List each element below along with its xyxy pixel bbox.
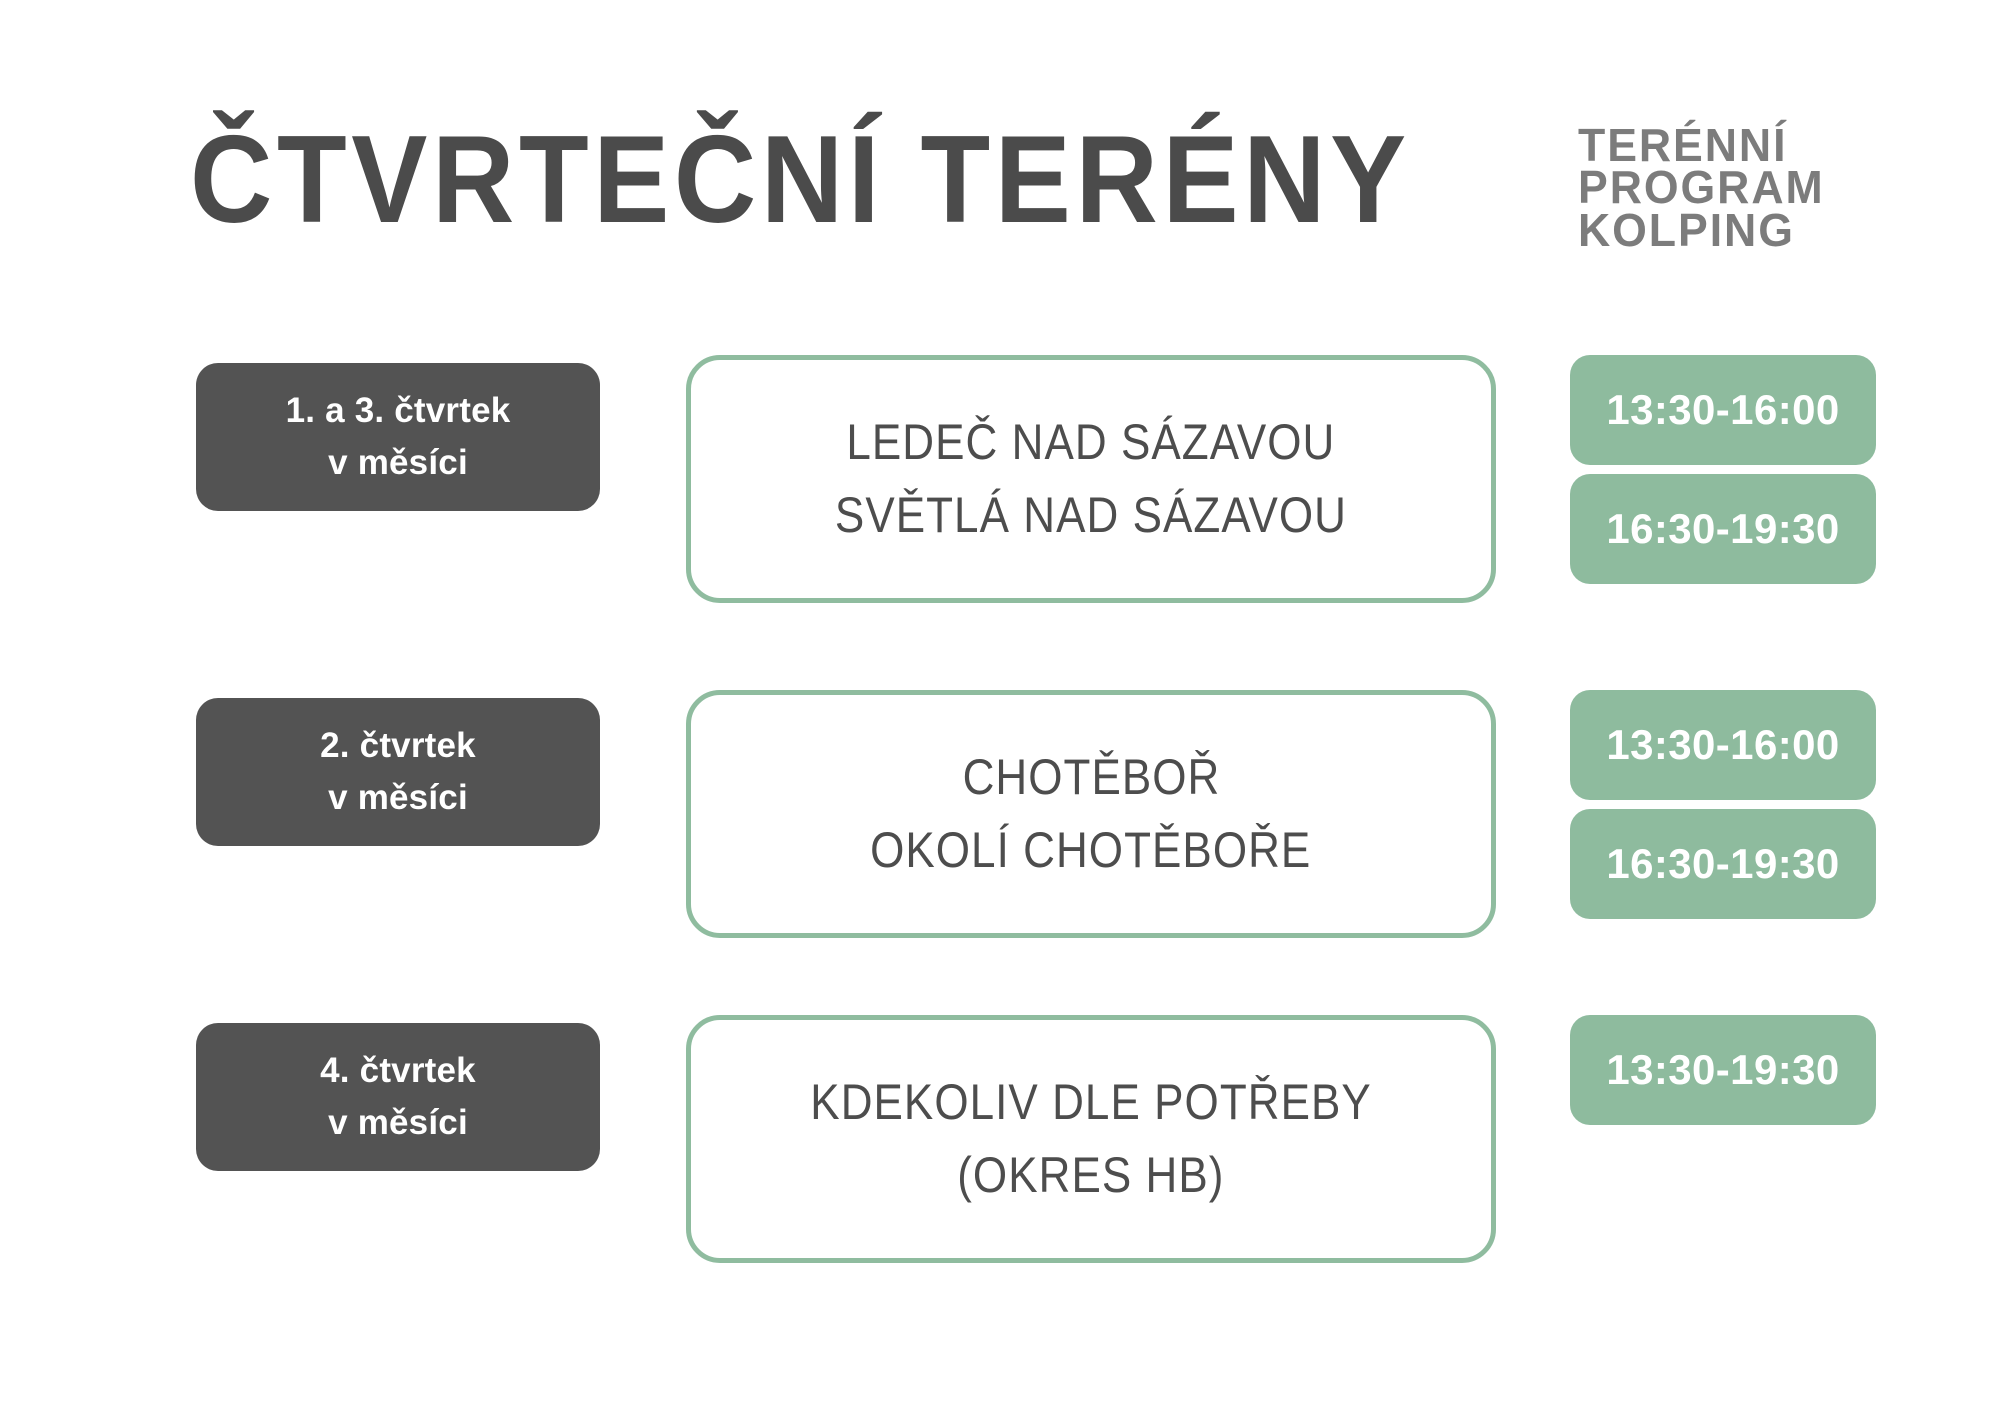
location-line-2: SVĚTLÁ NAD SÁZAVOU — [835, 479, 1347, 552]
location-line-1: LEDEČ NAD SÁZAVOU — [846, 406, 1335, 479]
time-badge: 13:30-16:00 — [1570, 355, 1876, 465]
location-card: LEDEČ NAD SÁZAVOU SVĚTLÁ NAD SÁZAVOU — [686, 355, 1496, 603]
day-badge-line-1: 4. čtvrtek — [320, 1045, 476, 1097]
day-badge-line-1: 2. čtvrtek — [320, 720, 476, 772]
day-badge: 1. a 3. čtvrtek v měsíci — [196, 363, 600, 511]
time-badge-group: 13:30-16:00 16:30-19:30 — [1570, 690, 1876, 919]
brand-logo: TERÉNNÍ PROGRAM KOLPING — [1578, 124, 1825, 251]
schedule-row: 2. čtvrtek v měsíci CHOTĚBOŘ OKOLÍ CHOTĚ… — [0, 690, 2000, 980]
page-title: ČTVRTEČNÍ TERÉNY — [190, 118, 1411, 242]
time-badge-group: 13:30-19:30 — [1570, 1015, 1876, 1125]
location-line-2: (OKRES HB) — [957, 1139, 1224, 1212]
day-badge: 4. čtvrtek v měsíci — [196, 1023, 600, 1171]
schedule-row: 4. čtvrtek v měsíci KDEKOLIV DLE POTŘEBY… — [0, 1015, 2000, 1305]
location-line-1: CHOTĚBOŘ — [962, 741, 1220, 814]
time-badge: 16:30-19:30 — [1570, 474, 1876, 584]
poster-header: ČTVRTEČNÍ TERÉNY TERÉNNÍ PROGRAM KOLPING — [0, 0, 2000, 300]
brand-line-3: KOLPING — [1578, 209, 1825, 251]
brand-line-1: TERÉNNÍ — [1578, 124, 1825, 166]
schedule-row: 1. a 3. čtvrtek v měsíci LEDEČ NAD SÁZAV… — [0, 355, 2000, 645]
time-badge-group: 13:30-16:00 16:30-19:30 — [1570, 355, 1876, 584]
time-badge: 16:30-19:30 — [1570, 809, 1876, 919]
location-card: CHOTĚBOŘ OKOLÍ CHOTĚBOŘE — [686, 690, 1496, 938]
day-badge-line-2: v měsíci — [328, 772, 468, 824]
day-badge-line-2: v měsíci — [328, 1097, 468, 1149]
day-badge-line-2: v měsíci — [328, 437, 468, 489]
location-line-2: OKOLÍ CHOTĚBOŘE — [870, 814, 1311, 887]
location-line-1: KDEKOLIV DLE POTŘEBY — [810, 1066, 1372, 1139]
time-badge: 13:30-16:00 — [1570, 690, 1876, 800]
day-badge-line-1: 1. a 3. čtvrtek — [286, 385, 511, 437]
time-badge: 13:30-19:30 — [1570, 1015, 1876, 1125]
brand-line-2: PROGRAM — [1578, 166, 1825, 208]
poster-page: ČTVRTEČNÍ TERÉNY TERÉNNÍ PROGRAM KOLPING… — [0, 0, 2000, 1414]
location-card: KDEKOLIV DLE POTŘEBY (OKRES HB) — [686, 1015, 1496, 1263]
day-badge: 2. čtvrtek v měsíci — [196, 698, 600, 846]
